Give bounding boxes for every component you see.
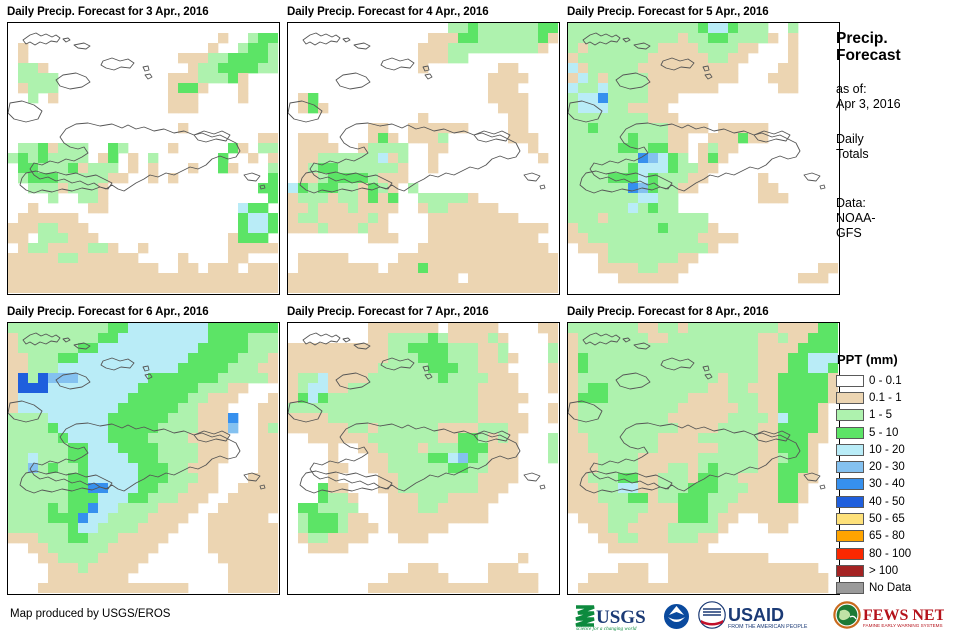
raster-cell: [98, 323, 108, 333]
raster-cell: [58, 283, 68, 293]
raster-cell: [588, 333, 598, 343]
noaa-logo[interactable]: [663, 603, 690, 630]
raster-cell: [658, 223, 668, 233]
raster-cell: [758, 513, 768, 523]
raster-cell: [348, 383, 358, 393]
raster-cell: [408, 443, 418, 453]
raster-cell: [778, 433, 788, 443]
raster-cell: [308, 133, 318, 143]
raster-cell: [338, 433, 348, 443]
raster-cell: [428, 443, 438, 453]
raster-cell: [88, 363, 98, 373]
raster-cell: [618, 573, 628, 583]
raster-cell: [578, 63, 588, 73]
legend-swatch: [836, 582, 864, 594]
raster-cell: [28, 453, 38, 463]
raster-cell: [488, 83, 498, 93]
raster-cell: [268, 453, 278, 463]
raster-cell: [648, 123, 658, 133]
raster-cell: [268, 463, 278, 473]
raster-cell: [728, 343, 738, 353]
raster-cell: [738, 123, 748, 133]
raster-cell: [58, 153, 68, 163]
raster-cell: [68, 513, 78, 523]
raster-cell: [618, 43, 628, 53]
data-source-line1: NOAA-: [836, 211, 970, 226]
panel-frame[interactable]: [567, 22, 840, 295]
raster-cell: [228, 573, 238, 583]
svg-text:science for a changing world: science for a changing world: [576, 625, 637, 631]
raster-cell: [718, 403, 728, 413]
raster-cell: [38, 523, 48, 533]
raster-cell: [718, 363, 728, 373]
raster-cell: [388, 403, 398, 413]
raster-cell: [708, 73, 718, 83]
raster-cell: [138, 373, 148, 383]
raster-cell: [458, 223, 468, 233]
raster-cell: [648, 143, 658, 153]
raster-cell: [248, 153, 258, 163]
raster-cell: [98, 333, 108, 343]
raster-cell: [668, 493, 678, 503]
raster-cell: [608, 63, 618, 73]
raster-cell: [388, 483, 398, 493]
raster-cell: [28, 63, 38, 73]
raster-cell: [418, 463, 428, 473]
raster-cell: [658, 493, 668, 503]
raster-cell: [688, 553, 698, 563]
raster-cell: [618, 323, 628, 333]
raster-cell: [188, 453, 198, 463]
raster-cell: [378, 403, 388, 413]
raster-cell: [28, 463, 38, 473]
raster-cell: [708, 573, 718, 583]
raster-cell: [208, 473, 218, 483]
svg-text:FAMINE EARLY WARNING SYSTEMS N: FAMINE EARLY WARNING SYSTEMS NETWORK: [863, 623, 944, 628]
raster-cell: [88, 533, 98, 543]
raster-cell: [538, 273, 548, 283]
raster-cell: [138, 553, 148, 563]
raster-cell: [678, 153, 688, 163]
usaid-logo[interactable]: USAID FROM THE AMERICAN PEOPLE: [697, 601, 825, 631]
raster-cell: [638, 353, 648, 363]
raster-cell: [38, 183, 48, 193]
raster-cell: [508, 473, 518, 483]
raster-cell: [688, 353, 698, 363]
raster-cell: [578, 433, 588, 443]
raster-cell: [738, 33, 748, 43]
raster-cell: [138, 363, 148, 373]
raster-cell: [248, 513, 258, 523]
raster-cell: [508, 283, 518, 293]
raster-cell: [588, 33, 598, 43]
raster-cell: [288, 423, 298, 433]
raster-cell: [168, 363, 178, 373]
raster-cell: [438, 253, 448, 263]
raster-cell: [678, 213, 688, 223]
raster-cell: [448, 263, 458, 273]
panel-frame[interactable]: [567, 322, 840, 595]
raster-cell: [208, 363, 218, 373]
raster-cell: [498, 353, 508, 363]
raster-cell: [88, 353, 98, 363]
panel-frame[interactable]: [7, 22, 280, 295]
raster-cell: [588, 93, 598, 103]
raster-cell: [298, 203, 308, 213]
raster-cell: [438, 333, 448, 343]
raster-cell: [808, 383, 818, 393]
raster-cell: [258, 533, 268, 543]
raster-cell: [378, 333, 388, 343]
raster-cell: [258, 583, 268, 593]
raster-cell: [228, 493, 238, 503]
raster-cell: [358, 343, 368, 353]
raster-cell: [478, 423, 488, 433]
raster-cell: [548, 323, 558, 333]
raster-cell: [598, 343, 608, 353]
raster-cell: [508, 73, 518, 83]
raster-cell: [548, 403, 558, 413]
raster-cell: [328, 253, 338, 263]
raster-cell: [658, 203, 668, 213]
raster-cell: [48, 523, 58, 533]
raster-cell: [188, 263, 198, 273]
raster-cell: [258, 373, 268, 383]
raster-cell: [38, 163, 48, 173]
raster-cell: [238, 323, 248, 333]
raster-cell: [58, 423, 68, 433]
raster-cell: [498, 333, 508, 343]
raster-cell: [418, 393, 428, 403]
raster-cell: [18, 163, 28, 173]
raster-cell: [678, 323, 688, 333]
raster-cell: [48, 193, 58, 203]
raster-cell: [298, 343, 308, 353]
raster-cell: [538, 263, 548, 273]
raster-cell: [358, 163, 368, 173]
raster-cell: [248, 63, 258, 73]
raster-cell: [338, 223, 348, 233]
raster-cell: [428, 413, 438, 423]
raster-cell: [208, 333, 218, 343]
raster-cell: [738, 363, 748, 373]
legend-item: 5 - 10: [836, 424, 970, 441]
raster-cell: [68, 333, 78, 343]
raster-cell: [608, 343, 618, 353]
raster-cell: [618, 513, 628, 523]
raster-cell: [438, 363, 448, 373]
raster-cell: [318, 273, 328, 283]
raster-cell: [88, 383, 98, 393]
raster-cell: [648, 363, 658, 373]
raster-cell: [68, 443, 78, 453]
raster-cell: [678, 483, 688, 493]
legend-swatch: [836, 565, 864, 577]
raster-cell: [668, 123, 678, 133]
raster-cell: [688, 413, 698, 423]
raster-cell: [708, 83, 718, 93]
raster-cell: [728, 403, 738, 413]
raster-cell: [398, 503, 408, 513]
raster-cell: [268, 553, 278, 563]
raster-cell: [438, 263, 448, 273]
raster-cell: [18, 393, 28, 403]
raster-cell: [578, 463, 588, 473]
raster-cell: [748, 343, 758, 353]
raster-cell: [348, 373, 358, 383]
raster-cell: [398, 323, 408, 333]
panel-frame[interactable]: [287, 22, 560, 295]
raster-cell: [138, 403, 148, 413]
raster-cell: [158, 333, 168, 343]
raster-cell: [748, 433, 758, 443]
raster-cell: [318, 543, 328, 553]
raster-cell: [628, 133, 638, 143]
usgs-logo[interactable]: USGS science for a changing world: [574, 601, 656, 631]
raster-cell: [588, 373, 598, 383]
raster-cell: [698, 53, 708, 63]
raster-cell: [608, 193, 618, 203]
raster-cell: [588, 493, 598, 503]
raster-cell: [488, 443, 498, 453]
raster-cell: [408, 273, 418, 283]
raster-cell: [58, 373, 68, 383]
raster-cell: [118, 353, 128, 363]
raster-cell: [568, 403, 578, 413]
raster-cell: [348, 193, 358, 203]
raster-cell: [598, 423, 608, 433]
raster-cell: [458, 33, 468, 43]
raster-cell: [788, 343, 798, 353]
raster-cell: [638, 533, 648, 543]
fewsnet-logo[interactable]: FEWS NET FAMINE EARLY WARNING SYSTEMS NE…: [832, 601, 944, 631]
raster-cell: [618, 483, 628, 493]
raster-cell: [488, 413, 498, 423]
raster-cell: [258, 223, 268, 233]
raster-cell: [518, 133, 528, 143]
raster-cell: [628, 223, 638, 233]
raster-cell: [778, 523, 788, 533]
raster-cell: [438, 573, 448, 583]
raster-cell: [108, 453, 118, 463]
raster-cell: [408, 483, 418, 493]
raster-cell: [378, 443, 388, 453]
raster-cell: [28, 163, 38, 173]
raster-cell: [328, 483, 338, 493]
raster-cell: [668, 143, 678, 153]
raster-cell: [218, 33, 228, 43]
raster-cell: [728, 333, 738, 343]
raster-cell: [788, 333, 798, 343]
raster-cell: [678, 373, 688, 383]
raster-cell: [8, 273, 18, 283]
raster-cell: [28, 183, 38, 193]
raster-cell: [318, 433, 328, 443]
raster-cell: [608, 183, 618, 193]
raster-cell: [658, 383, 668, 393]
raster-cell: [668, 233, 678, 243]
raster-cell: [308, 413, 318, 423]
raster-cell: [8, 363, 18, 373]
raster-cell: [18, 333, 28, 343]
raster-cell: [608, 543, 618, 553]
raster-cell: [758, 583, 768, 593]
raster-cell: [728, 143, 738, 153]
raster-cell: [448, 373, 458, 383]
raster-cell: [628, 153, 638, 163]
raster-cell: [598, 153, 608, 163]
raster-cell: [458, 53, 468, 63]
raster-cell: [378, 393, 388, 403]
raster-cell: [828, 323, 838, 333]
panel-frame[interactable]: [7, 322, 280, 595]
raster-cell: [738, 343, 748, 353]
raster-cell: [398, 533, 408, 543]
raster-cell: [638, 183, 648, 193]
raster-cell: [798, 493, 808, 503]
raster-cell: [628, 83, 638, 93]
raster-cell: [538, 323, 548, 333]
raster-cell: [108, 353, 118, 363]
raster-cell: [568, 373, 578, 383]
raster-cell: [708, 463, 718, 473]
raster-cell: [598, 243, 608, 253]
raster-cell: [328, 413, 338, 423]
raster-cell: [418, 123, 428, 133]
raster-cell: [88, 473, 98, 483]
raster-cell: [628, 63, 638, 73]
raster-cell: [808, 333, 818, 343]
raster-cell: [658, 333, 668, 343]
raster-cell: [28, 443, 38, 453]
raster-cell: [628, 343, 638, 353]
raster-cell: [68, 573, 78, 583]
raster-cell: [648, 583, 658, 593]
raster-cell: [338, 523, 348, 533]
raster-cell: [148, 363, 158, 373]
raster-cell: [788, 453, 798, 463]
raster-cell: [388, 363, 398, 373]
raster-cell: [148, 343, 158, 353]
raster-cell: [568, 503, 578, 513]
raster-cell: [378, 433, 388, 443]
raster-cell: [488, 333, 498, 343]
raster-cell: [608, 73, 618, 83]
raster-cell: [308, 423, 318, 433]
raster-cell: [628, 373, 638, 383]
raster-cell: [58, 233, 68, 243]
legend-item: 1 - 5: [836, 407, 970, 424]
raster-cell: [698, 333, 708, 343]
raster-cell: [618, 153, 628, 163]
raster-cell: [98, 563, 108, 573]
raster-cell: [178, 473, 188, 483]
raster-cell: [568, 493, 578, 503]
raster-cell: [468, 233, 478, 243]
raster-cell: [438, 33, 448, 43]
raster-cell: [498, 583, 508, 593]
raster-cell: [788, 363, 798, 373]
raster-cell: [358, 173, 368, 183]
raster-cell: [698, 63, 708, 73]
raster-cell: [528, 263, 538, 273]
raster-cell: [628, 103, 638, 113]
raster-cell: [338, 403, 348, 413]
raster-cell: [128, 403, 138, 413]
raster-cell: [298, 383, 308, 393]
raster-cell: [508, 573, 518, 583]
raster-cell: [648, 443, 658, 453]
raster-cell: [78, 153, 88, 163]
raster-cell: [668, 363, 678, 373]
raster-cell: [638, 493, 648, 503]
raster-cell: [8, 513, 18, 523]
raster-cell: [668, 323, 678, 333]
raster-cell: [458, 443, 468, 453]
raster-cell: [328, 383, 338, 393]
raster-cell: [158, 413, 168, 423]
raster-cell: [18, 83, 28, 93]
raster-cell: [118, 403, 128, 413]
raster-cell: [218, 323, 228, 333]
raster-cell: [768, 343, 778, 353]
raster-cell: [448, 493, 458, 503]
panel-frame[interactable]: [287, 322, 560, 595]
raster-cell: [608, 233, 618, 243]
raster-cell: [268, 163, 278, 173]
raster-cell: [88, 323, 98, 333]
raster-cell: [258, 503, 268, 513]
raster-cell: [798, 273, 808, 283]
raster-cell: [368, 333, 378, 343]
raster-cell: [48, 383, 58, 393]
raster-cell: [458, 233, 468, 243]
raster-cell: [128, 253, 138, 263]
raster-cell: [58, 223, 68, 233]
raster-cell: [798, 403, 808, 413]
raster-cell: [218, 443, 228, 453]
raster-cell: [578, 53, 588, 63]
raster-cell: [468, 433, 478, 443]
raster-cell: [308, 343, 318, 353]
raster-cell: [658, 353, 668, 363]
raster-cell: [628, 323, 638, 333]
raster-cell: [618, 243, 628, 253]
raster-cell: [568, 103, 578, 113]
raster-cell: [188, 403, 198, 413]
raster-cell: [418, 283, 428, 293]
raster-cell: [808, 563, 818, 573]
legend-rows: 0 - 0.10.1 - 11 - 55 - 1010 - 2020 - 303…: [836, 372, 970, 597]
raster-cell: [668, 533, 678, 543]
raster-cell: [488, 363, 498, 373]
raster-cell: [8, 443, 18, 453]
raster-cell: [588, 433, 598, 443]
raster-cell: [428, 133, 438, 143]
raster-cell: [198, 363, 208, 373]
raster-cell: [98, 203, 108, 213]
raster-cell: [308, 253, 318, 263]
raster-cell: [668, 423, 678, 433]
raster-cell: [98, 243, 108, 253]
raster-cell: [158, 373, 168, 383]
raster-cell: [778, 483, 788, 493]
raster-cell: [368, 233, 378, 243]
raster-cell: [768, 523, 778, 533]
raster-cell: [8, 523, 18, 533]
raster-cell: [378, 463, 388, 473]
raster-cell: [458, 43, 468, 53]
